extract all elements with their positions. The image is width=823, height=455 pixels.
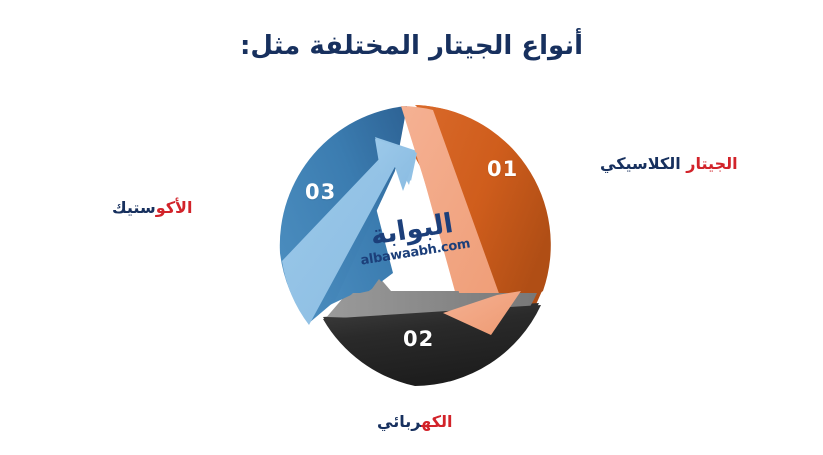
label-acoustic: الأكوستيك: [112, 198, 192, 217]
label-classic-guitar-word2: الكلاسيكي: [600, 154, 681, 173]
cycle-diagram: 01 02 03: [265, 95, 565, 395]
label-acoustic-part2: ستيك: [112, 198, 156, 217]
label-electric: الكهربائي: [377, 412, 453, 431]
label-electric-part1: الكه: [421, 412, 452, 431]
label-classic-guitar: الجيتار الكلاسيكي: [600, 154, 738, 173]
page-title: أنواع الجيتار المختلفة مثل:: [0, 30, 823, 64]
label-classic-guitar-word1: الجيتار: [686, 154, 737, 173]
page-root: أنواع الجيتار المختلفة مثل:: [0, 0, 823, 455]
cycle-diagram-svg: [265, 95, 565, 395]
label-electric-part2: ربائي: [377, 412, 421, 431]
label-acoustic-part1: الأكو: [156, 198, 193, 217]
